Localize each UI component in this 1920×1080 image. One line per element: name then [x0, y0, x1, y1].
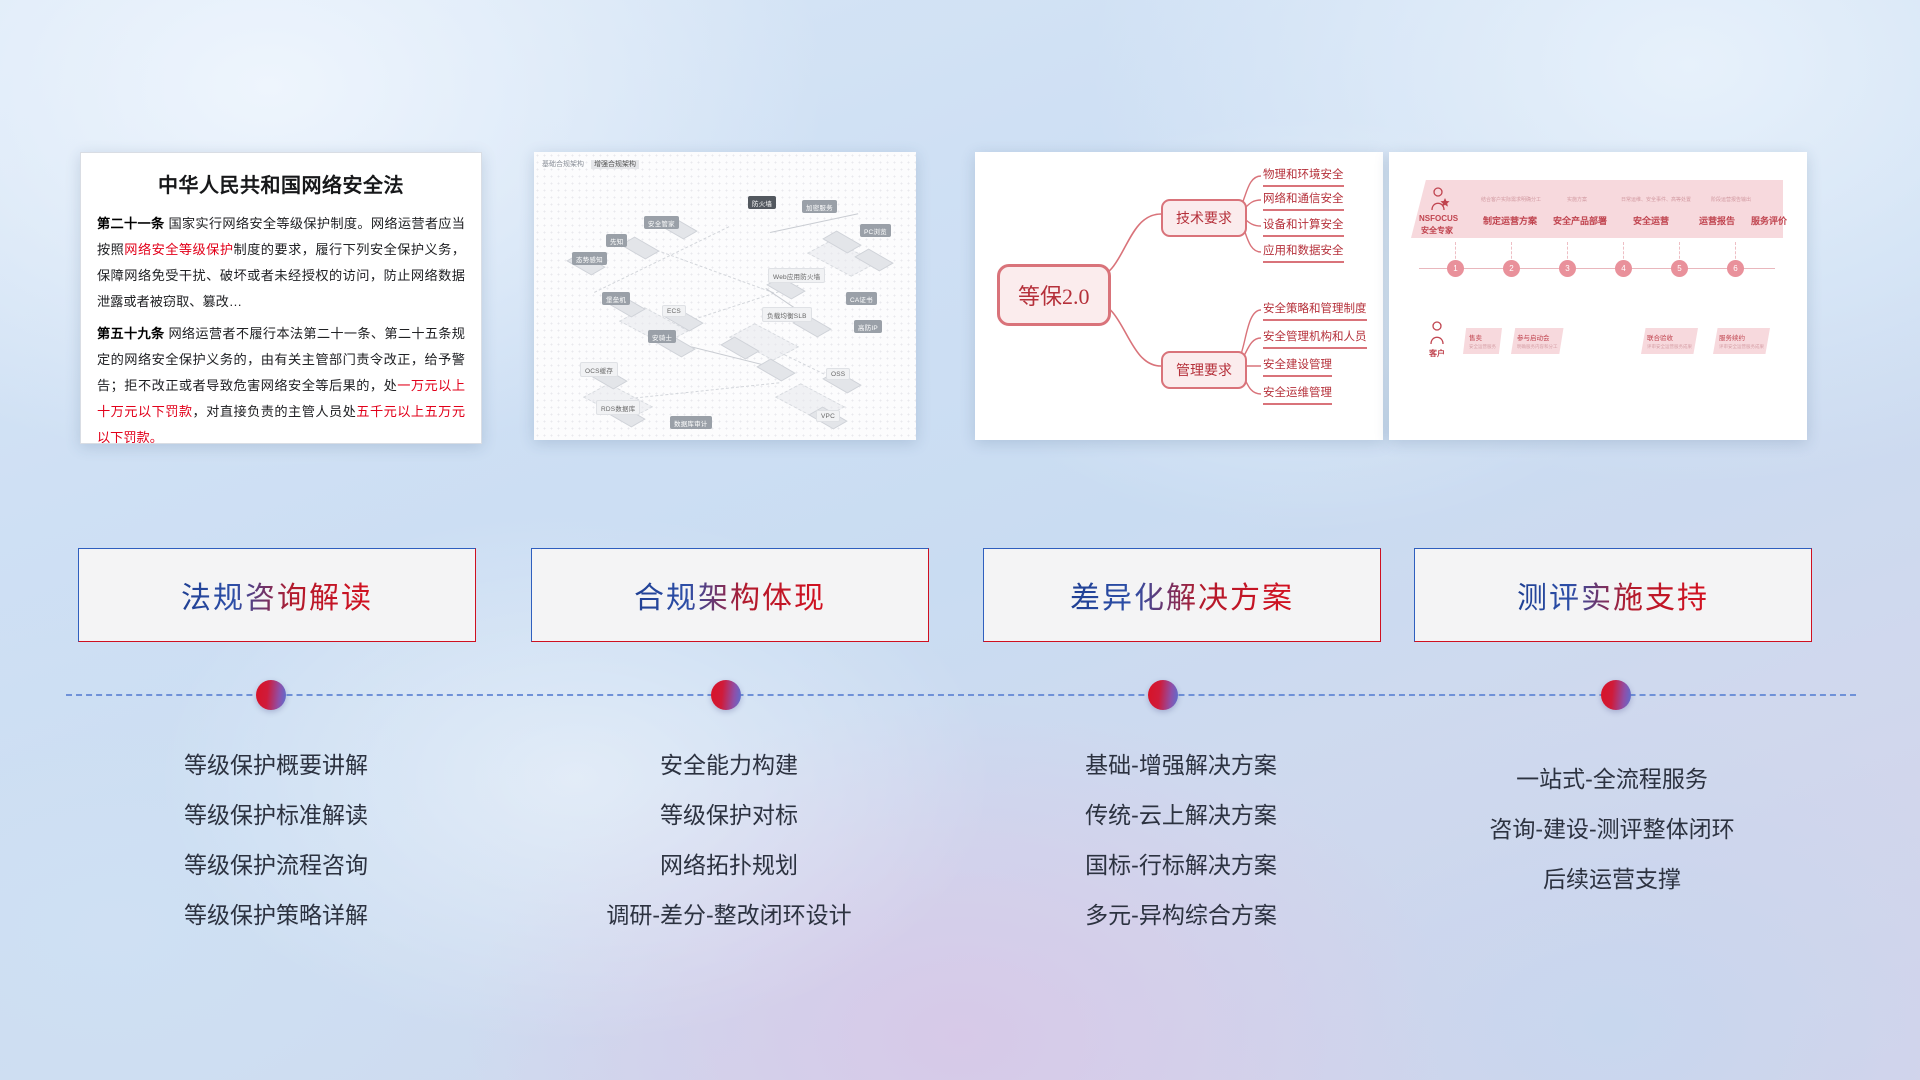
architecture-node-chip[interactable]: PC浏览 — [860, 224, 891, 237]
server-cube-icon — [826, 234, 856, 254]
step-title: 安全产品部署 — [1553, 214, 1607, 227]
detail-list-regulation: 等级保护概要讲解 等级保护标准解读 等级保护流程咨询 等级保护策略详解 — [78, 740, 474, 940]
architecture-node-chip[interactable]: CA证书 — [846, 292, 877, 305]
customer-icon — [1427, 320, 1449, 346]
heading-label: 法规咨询解读 — [181, 573, 373, 617]
section-heading-row: 法规咨询解读 合规架构体现 差异化解决方案 测评实施支持 — [0, 548, 1920, 640]
architecture-node-chip[interactable]: 加密服务 — [802, 200, 837, 213]
timeline-knob-2[interactable] — [711, 680, 741, 710]
step-title: 服务评价 — [1751, 214, 1787, 227]
server-cube-icon — [624, 240, 654, 260]
list-item[interactable]: 后续运营支撑 — [1414, 854, 1810, 904]
architecture-node-chip[interactable]: RDS数据库 — [596, 400, 640, 415]
mindmap-leaf[interactable]: 安全管理机构和人员 — [1263, 328, 1367, 349]
card-compliance-architecture[interactable]: 基础合规架构增强合规架构 — [534, 152, 916, 440]
list-item[interactable]: 多元-异构综合方案 — [983, 890, 1379, 940]
heading-label: 测评实施支持 — [1517, 573, 1709, 617]
tab-basic-architecture[interactable]: 基础合规架构 — [542, 161, 584, 168]
bottom-tag-title: 参与启动会 — [1517, 335, 1550, 342]
heading-box-evaluation[interactable]: 测评实施支持 — [1414, 548, 1812, 642]
mindmap-root-node[interactable]: 等保2.0 — [997, 264, 1111, 326]
nsfocus-brand: NSFOCUS — [1419, 214, 1458, 223]
timeline-step-dot[interactable]: 2 — [1503, 260, 1520, 277]
server-cube-icon — [858, 252, 888, 272]
architecture-node-chip[interactable]: OCS缓存 — [580, 362, 618, 377]
bottom-tag-title: 服务续约 — [1719, 335, 1745, 342]
heading-box-regulation[interactable]: 法规咨询解读 — [78, 548, 476, 642]
timeline-dashed-axis — [66, 694, 1856, 698]
architecture-node-chip[interactable]: VPC — [816, 410, 840, 422]
preview-card-row: 中华人民共和国网络安全法 第二十一条 国家实行网络安全等级保护制度。网络运营者应… — [0, 152, 1920, 442]
article-21-label: 第二十一条 — [97, 216, 164, 231]
timeline-step-dot[interactable]: 6 — [1727, 260, 1744, 277]
bottom-tag-sub: 安全运营服务 — [1469, 344, 1496, 350]
bottom-tag[interactable]: 参与启动会 明确服务内容和分工 — [1511, 328, 1564, 354]
tab-enhanced-architecture[interactable]: 增强合规架构 — [591, 160, 639, 169]
architecture-node-chip[interactable]: 安全管家 — [644, 216, 679, 229]
architecture-node-chip[interactable]: 先知 — [606, 234, 627, 247]
list-item[interactable]: 一站式-全流程服务 — [1414, 754, 1810, 804]
heading-label: 合规架构体现 — [634, 573, 826, 617]
architecture-node-chip[interactable]: 高防IP — [854, 320, 882, 333]
law-article-59: 第五十九条 网络运营者不履行本法第二十一条、第二十五条规定的网络安全保护义务的，… — [97, 321, 465, 444]
list-item[interactable]: 国标-行标解决方案 — [983, 840, 1379, 890]
mindmap-leaf[interactable]: 安全策略和管理制度 — [1263, 300, 1367, 321]
arch-connector — [630, 382, 779, 399]
card-nsfocus-service-flow[interactable]: NSFOCUS 安全专家 结合客户实际需求明确分工 制定运营方案 实施方案 安全… — [1389, 152, 1807, 440]
step-title: 安全运营 — [1633, 214, 1669, 227]
step-sub: 实施方案 — [1567, 196, 1587, 203]
bottom-tag[interactable]: 服务续约 评审安全运营服务成果 — [1713, 328, 1770, 354]
mindmap-leaf[interactable]: 安全建设管理 — [1263, 356, 1332, 377]
detail-list-architecture: 安全能力构建 等级保护对标 网络拓扑规划 调研-差分-整改闭环设计 — [531, 740, 927, 940]
mindmap-canvas: 等保2.0 技术要求 管理要求 物理和环境安全 网络和通信安全 设备和计算安全 … — [975, 152, 1383, 440]
law-article-21: 第二十一条 国家实行网络安全等级保护制度。网络运营者应当按照网络安全等级保护制度… — [97, 211, 465, 315]
architecture-node-chip[interactable]: 数据库审计 — [670, 416, 712, 429]
list-item[interactable]: 等级保护对标 — [531, 790, 927, 840]
law-title: 中华人民共和国网络安全法 — [81, 169, 481, 198]
mindmap-leaf[interactable]: 网络和通信安全 — [1263, 190, 1344, 211]
article-59-text-b: ，对直接负责的主管人员处 — [193, 404, 357, 419]
step-title: 制定运营方案 — [1483, 214, 1537, 227]
list-item[interactable]: 等级保护标准解读 — [78, 790, 474, 840]
timeline-step-dot[interactable]: 4 — [1615, 260, 1632, 277]
list-item[interactable]: 网络拓扑规划 — [531, 840, 927, 890]
architecture-node-chip[interactable]: 安骑士 — [648, 330, 676, 343]
list-item[interactable]: 等级保护概要讲解 — [78, 740, 474, 790]
step-sub: 阶段运营报告输出 — [1711, 196, 1751, 203]
nsfocus-canvas: NSFOCUS 安全专家 结合客户实际需求明确分工 制定运营方案 实施方案 安全… — [1389, 152, 1807, 440]
timeline-step-dot[interactable]: 1 — [1447, 260, 1464, 277]
nsfocus-timeline-axis — [1419, 268, 1775, 269]
arch-connector — [652, 248, 775, 293]
architecture-node-chip[interactable]: ECS — [662, 305, 686, 317]
timeline-step-dot[interactable]: 3 — [1559, 260, 1576, 277]
architecture-node-chip[interactable]: OSS — [826, 368, 850, 380]
heading-label: 差异化解决方案 — [1070, 573, 1294, 617]
heading-box-architecture[interactable]: 合规架构体现 — [531, 548, 929, 642]
step-title: 运营报告 — [1699, 214, 1735, 227]
mindmap-leaf[interactable]: 应用和数据安全 — [1263, 242, 1344, 263]
mindmap-leaf[interactable]: 安全运维管理 — [1263, 384, 1332, 405]
bottom-tag-sub: 明确服务内容和分工 — [1517, 344, 1558, 350]
nsfocus-customer-label: 客户 — [1429, 348, 1445, 359]
list-item[interactable]: 等级保护策略详解 — [78, 890, 474, 940]
mindmap-branch-technical[interactable]: 技术要求 — [1161, 199, 1247, 237]
bottom-tag-sub: 评审安全运营服务成果 — [1647, 344, 1692, 350]
list-item[interactable]: 基础-增强解决方案 — [983, 740, 1379, 790]
architecture-node-chip[interactable]: 堡垒机 — [602, 292, 630, 305]
bottom-tag[interactable]: 联合验收 评审安全运营服务成果 — [1641, 328, 1698, 354]
bottom-tag[interactable]: 售卖 安全运营服务 — [1463, 328, 1502, 354]
timeline-step-dot[interactable]: 5 — [1671, 260, 1688, 277]
architecture-node-chip[interactable]: 负载均衡SLB — [762, 307, 812, 322]
security-expert-icon — [1429, 186, 1451, 212]
heading-box-solution[interactable]: 差异化解决方案 — [983, 548, 1381, 642]
timeline-knob-3[interactable] — [1148, 680, 1178, 710]
mindmap-leaf[interactable]: 设备和计算安全 — [1263, 216, 1344, 237]
server-cube-icon — [770, 280, 800, 300]
mindmap-branch-management[interactable]: 管理要求 — [1161, 351, 1247, 389]
bottom-tag-sub: 评审安全运营服务成果 — [1719, 344, 1764, 350]
detail-list-solution: 基础-增强解决方案 传统-云上解决方案 国标-行标解决方案 多元-异构综合方案 — [983, 740, 1379, 940]
server-cube-icon — [724, 340, 754, 360]
timeline-knob-1[interactable] — [256, 680, 286, 710]
architecture-node-chip[interactable]: Web应用防火墙 — [768, 268, 825, 283]
bottom-tag-title: 联合验收 — [1647, 335, 1673, 342]
server-cube-icon — [760, 362, 790, 382]
card-cybersecurity-law[interactable]: 中华人民共和国网络安全法 第二十一条 国家实行网络安全等级保护制度。网络运营者应… — [80, 152, 482, 444]
arch-connector — [770, 213, 858, 233]
list-item[interactable]: 咨询-建设-测评整体闭环 — [1414, 804, 1810, 854]
card-mindmap-dengbao[interactable]: 等保2.0 技术要求 管理要求 物理和环境安全 网络和通信安全 设备和计算安全 … — [975, 152, 1383, 440]
detail-list-evaluation: 一站式-全流程服务 咨询-建设-测评整体闭环 后续运营支撑 — [1414, 754, 1810, 904]
list-item[interactable]: 安全能力构建 — [531, 740, 927, 790]
bottom-tag-title: 售卖 — [1469, 335, 1482, 342]
list-item[interactable]: 等级保护流程咨询 — [78, 840, 474, 890]
step-sub: 日常运维、安全事件、高等处置 — [1621, 196, 1691, 203]
timeline-knob-4[interactable] — [1601, 680, 1631, 710]
architecture-canvas: 基础合规架构增强合规架构 — [534, 152, 916, 440]
architecture-node-chip[interactable]: 防火墙 — [748, 196, 776, 209]
law-body: 第二十一条 国家实行网络安全等级保护制度。网络运营者应当按照网络安全等级保护制度… — [81, 211, 481, 444]
list-item[interactable]: 传统-云上解决方案 — [983, 790, 1379, 840]
nsfocus-banner — [1411, 180, 1783, 238]
article-21-highlight: 网络安全等级保护 — [124, 242, 233, 257]
list-item[interactable]: 调研-差分-整改闭环设计 — [531, 890, 927, 940]
nsfocus-brand-sub: 安全专家 — [1421, 225, 1453, 236]
mindmap-leaf[interactable]: 物理和环境安全 — [1263, 166, 1344, 187]
step-sub: 结合客户实际需求明确分工 — [1481, 196, 1541, 203]
architecture-tabs[interactable]: 基础合规架构增强合规架构 — [542, 159, 646, 169]
article-59-label: 第五十九条 — [97, 326, 164, 341]
architecture-node-chip[interactable]: 态势感知 — [572, 252, 607, 265]
